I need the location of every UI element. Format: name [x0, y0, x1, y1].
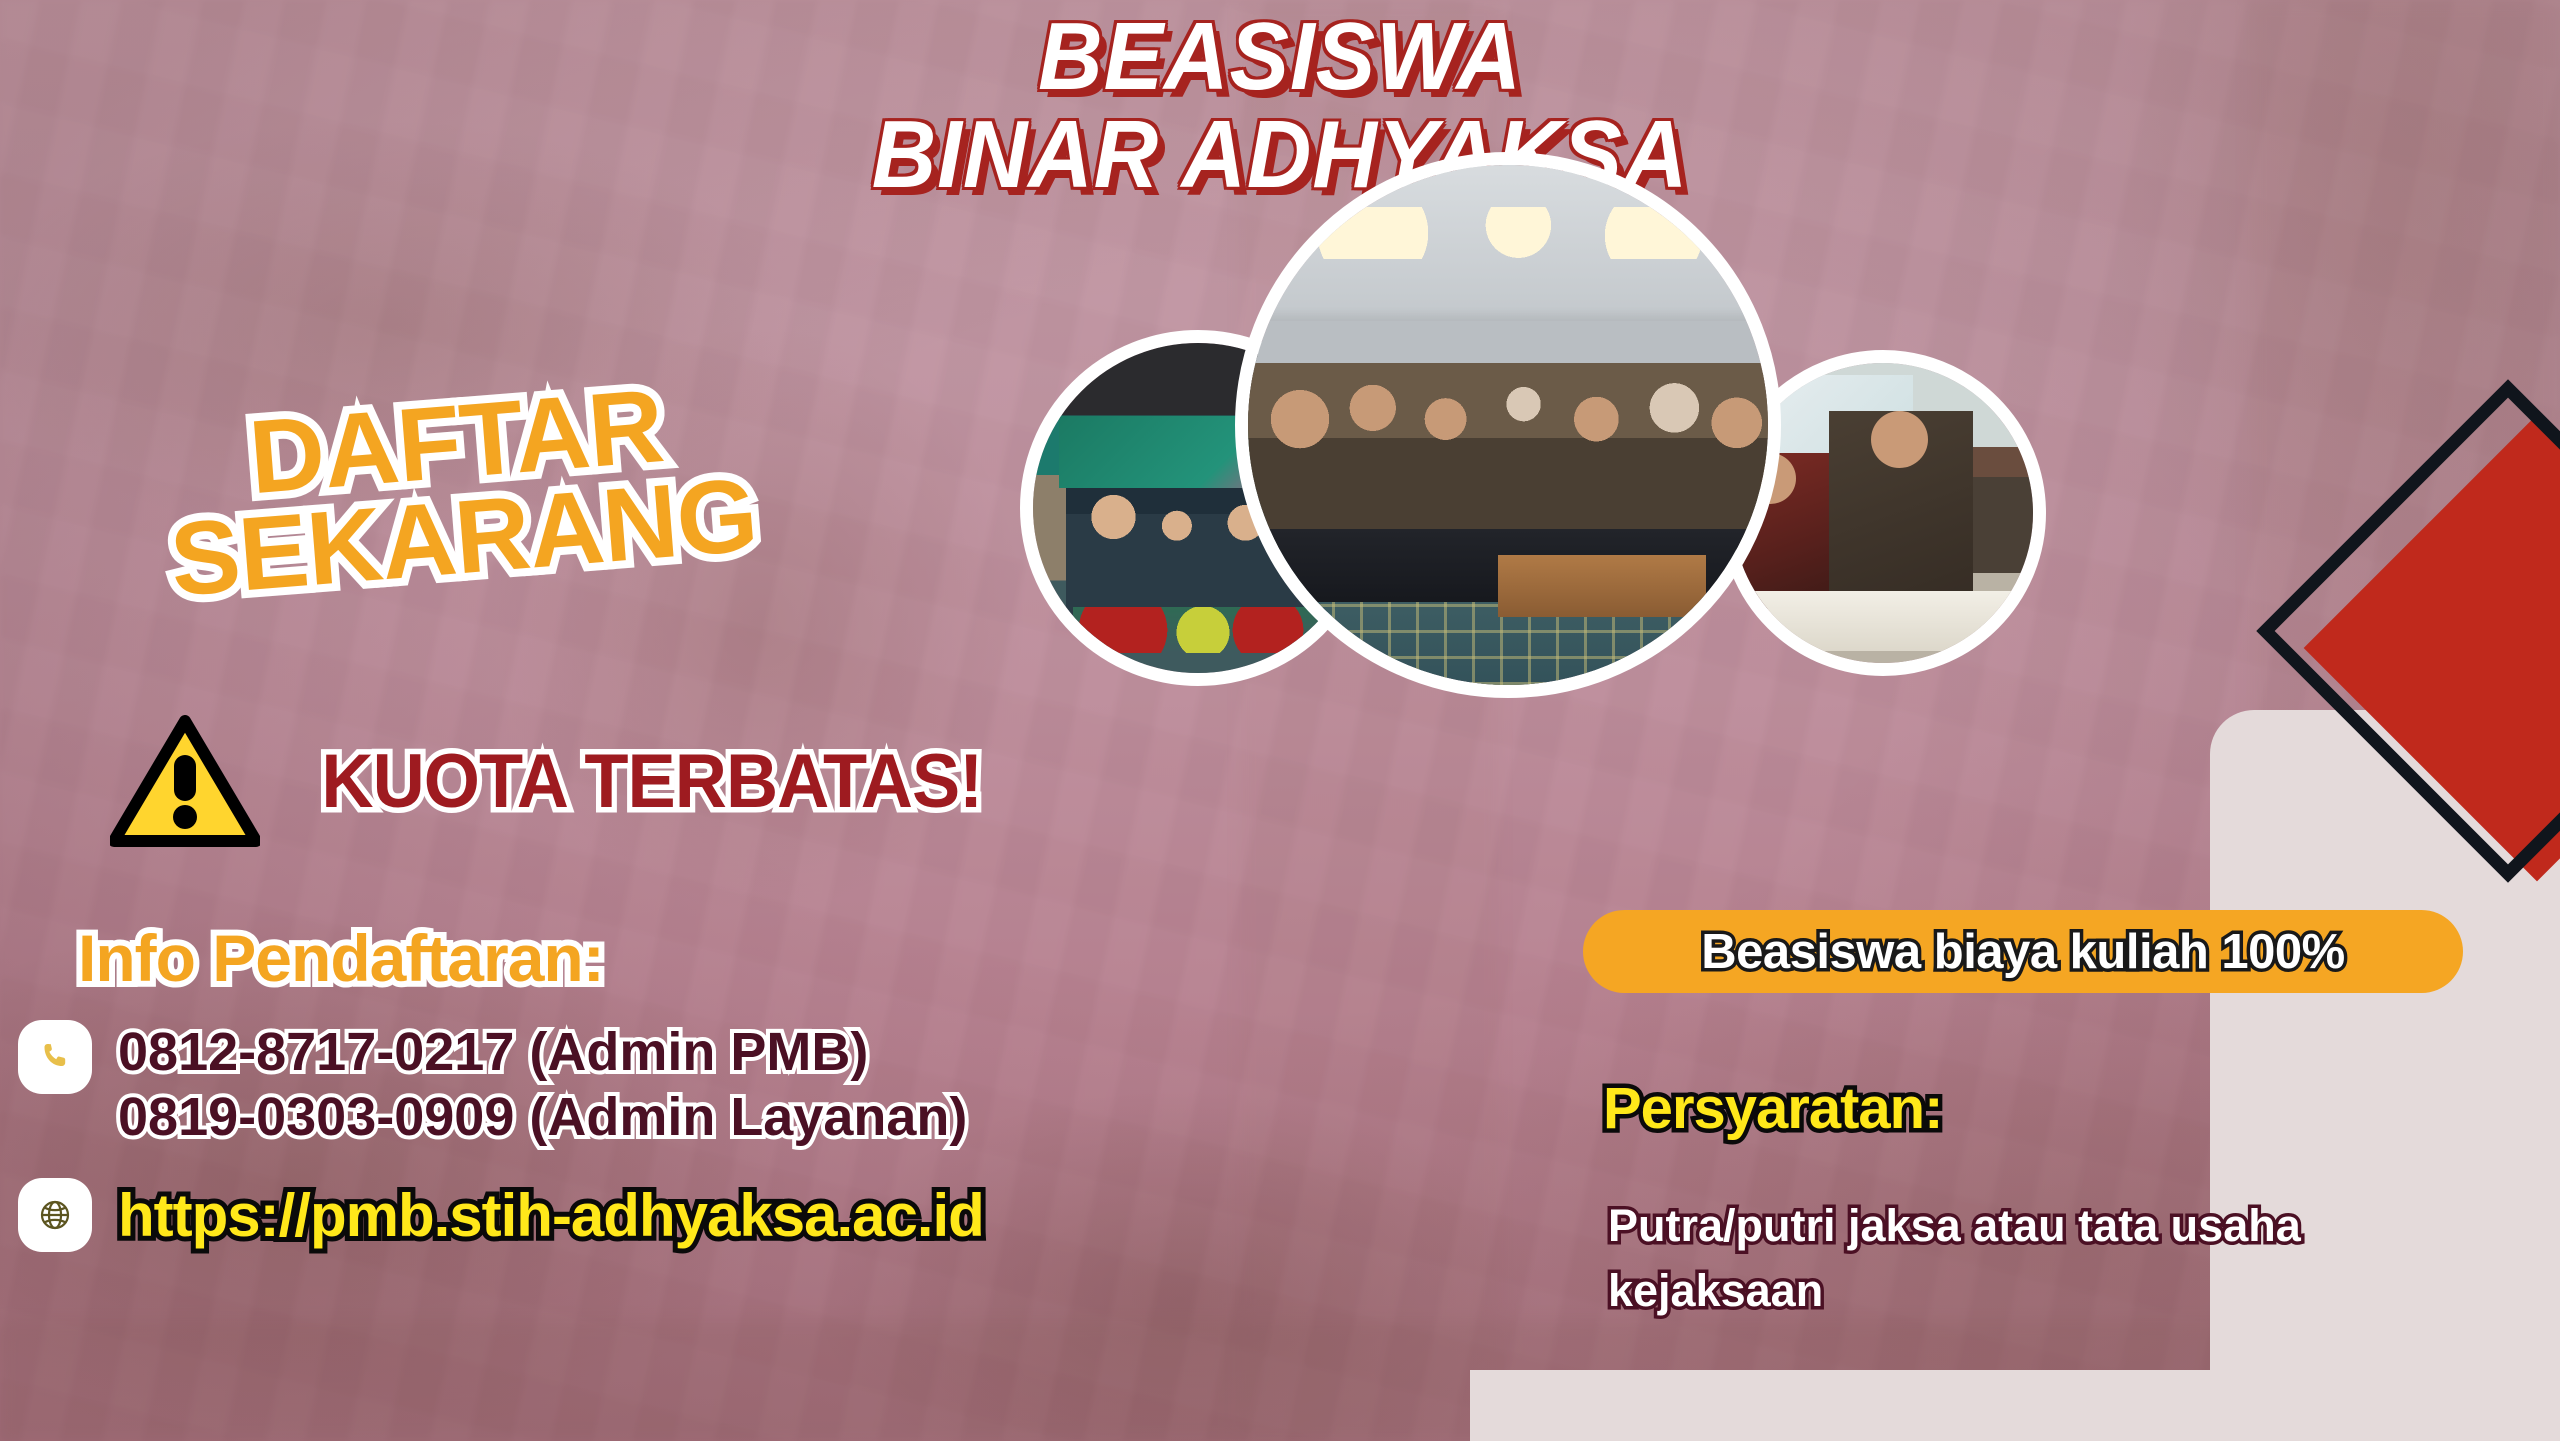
photo-3-head-right [1871, 411, 1928, 468]
requirements-text: Putra/putri jaksa atau tata usaha kejaks… [1608, 1193, 2468, 1324]
diamond-black-outline [2256, 379, 2560, 882]
phone-number-2: 0819-0303-0909 (Admin Layanan) [118, 1085, 967, 1150]
photo-2-lights [1248, 207, 1768, 259]
limited-quota-notice: KUOTA TERBATAS! [110, 715, 1000, 847]
website-url[interactable]: https://pmb.stih-adhyaksa.ac.id [118, 1181, 984, 1250]
requirements-heading: Persyaratan: [1603, 1075, 1942, 1142]
photo-3-documents [1739, 591, 2015, 651]
status-badge: Beasiswa biaya kuliah 100% [1583, 910, 2463, 993]
photo-collage [1020, 240, 1660, 860]
quota-text: KUOTA TERBATAS! [321, 738, 982, 825]
scholarship-promo-banner: BEASISWA BINAR ADHYAKSA [0, 0, 2560, 1441]
decorative-diamond [2300, 425, 2560, 855]
website-contact-row[interactable]: https://pmb.stih-adhyaksa.ac.id [18, 1178, 984, 1252]
phone-icon [18, 1020, 92, 1094]
phone-contact-row[interactable]: 0812-8717-0217 (Admin PMB) 0819-0303-090… [18, 1020, 967, 1150]
bottom-right-panel-strip [1470, 1370, 2560, 1441]
badge-label: Beasiswa biaya kuliah 100% [1701, 924, 2344, 980]
registration-info-heading: Info Pendaftaran: [78, 920, 604, 996]
globe-icon [18, 1178, 92, 1252]
phone-number-1: 0812-8717-0217 (Admin PMB) [118, 1020, 967, 1085]
warning-triangle-icon [110, 715, 260, 847]
seminar-audience-photo [1235, 152, 1781, 698]
headline-line-1: BEASISWA [1038, 3, 1522, 110]
photo-2-table [1498, 555, 1706, 617]
phone-numbers: 0812-8717-0217 (Admin PMB) 0819-0303-090… [118, 1020, 967, 1150]
photo-2-crowd [1248, 363, 1768, 550]
